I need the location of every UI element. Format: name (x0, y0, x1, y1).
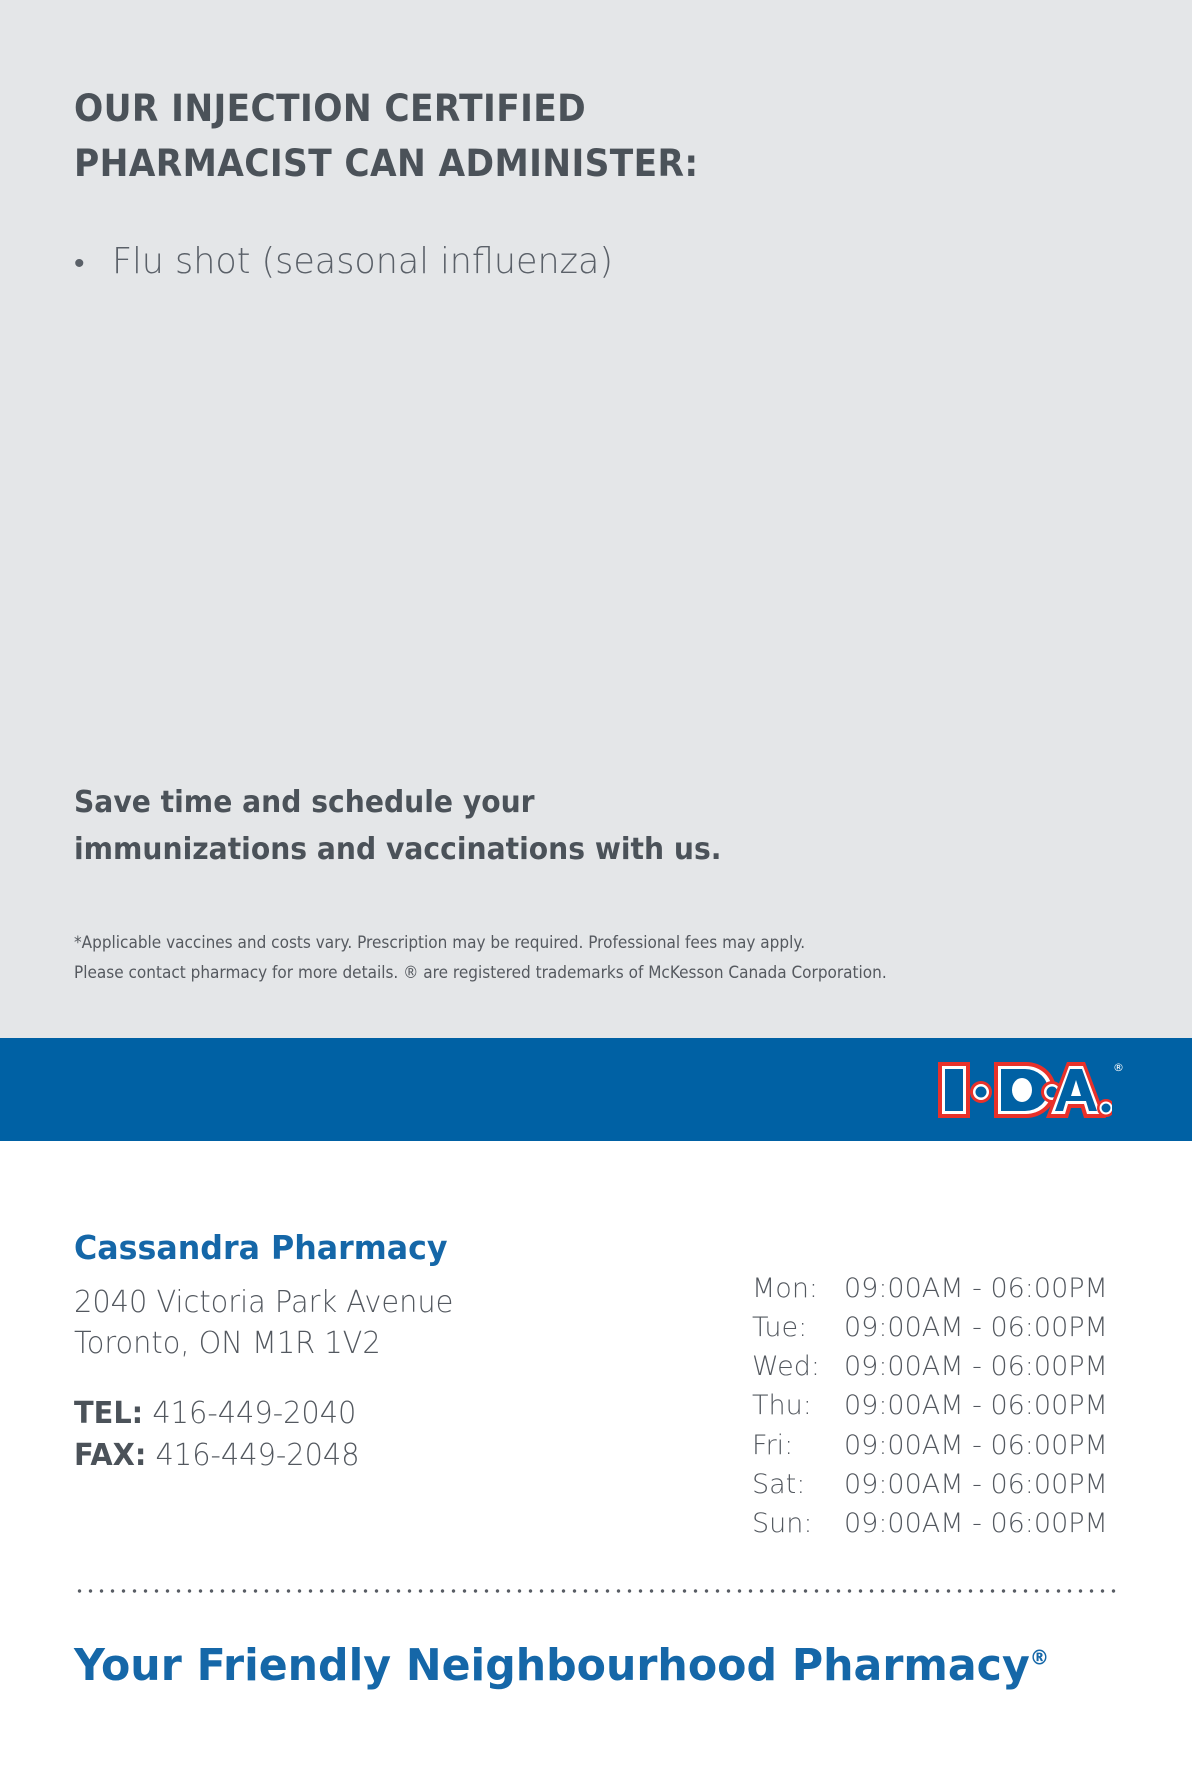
store-address-line-1: 2040 Victoria Park Avenue (74, 1282, 669, 1324)
page-title-line-1: OUR INJECTION CERTIFIED (74, 82, 874, 137)
store-contact-block: Cassandra Pharmacy 2040 Victoria Park Av… (74, 1228, 694, 1476)
telephone-value: 416-449-2040 (152, 1396, 356, 1431)
disclaimer-line-1: *Applicable vaccines and costs vary. Pre… (74, 928, 1037, 958)
store-address-line-2: Toronto, ON M1R 1V2 (74, 1323, 669, 1365)
hours-day-label: Wed: (752, 1347, 844, 1386)
service-label: Flu shot (seasonal influenza) (112, 238, 613, 287)
hours-time-value: 09:00AM - 06:00PM (844, 1308, 1108, 1347)
hours-day-label: Sun: (752, 1504, 844, 1543)
store-name: Cassandra Pharmacy (74, 1228, 669, 1268)
table-row: Sat: 09:00AM - 06:00PM (752, 1465, 1108, 1504)
bullet-icon: • (74, 249, 112, 279)
dotted-divider (74, 1588, 1118, 1594)
hours-time-value: 09:00AM - 06:00PM (844, 1465, 1108, 1504)
hours-time-value: 09:00AM - 06:00PM (844, 1504, 1108, 1543)
hours-day-label: Fri: (752, 1426, 844, 1465)
hours-time-value: 09:00AM - 06:00PM (844, 1386, 1108, 1425)
brand-band: ® (0, 1038, 1192, 1141)
table-row: Mon: 09:00AM - 06:00PM (752, 1269, 1108, 1308)
hours-time-value: 09:00AM - 06:00PM (844, 1347, 1108, 1386)
disclaimer-line-2: Please contact pharmacy for more details… (74, 958, 1037, 988)
disclaimer-text: *Applicable vaccines and costs vary. Pre… (74, 928, 1037, 989)
fax-value: 416-449-2048 (156, 1438, 360, 1473)
telephone-label: TEL: (74, 1396, 143, 1431)
hours-day-label: Thu: (752, 1386, 844, 1425)
hours-time-value: 09:00AM - 06:00PM (844, 1426, 1108, 1465)
table-row: Sun: 09:00AM - 06:00PM (752, 1504, 1108, 1543)
promo-line-2: immunizations and vaccinations with us. (74, 826, 882, 873)
page-title-line-2: PHARMACIST CAN ADMINISTER: (74, 137, 874, 192)
tagline-registered-mark: ® (1030, 1645, 1049, 1669)
services-list: • Flu shot (seasonal influenza) (74, 238, 974, 287)
hours-day-label: Sat: (752, 1465, 844, 1504)
table-row: Fri: 09:00AM - 06:00PM (752, 1426, 1108, 1465)
store-hours-table: Mon: 09:00AM - 06:00PM Tue: 09:00AM - 06… (752, 1269, 1108, 1543)
fax-label: FAX: (74, 1438, 146, 1473)
store-hours-body: Mon: 09:00AM - 06:00PM Tue: 09:00AM - 06… (752, 1269, 1108, 1543)
ida-logo: ® (934, 1058, 1124, 1122)
hours-day-label: Mon: (752, 1269, 844, 1308)
table-row: Tue: 09:00AM - 06:00PM (752, 1308, 1108, 1347)
store-info-section: Cassandra Pharmacy 2040 Victoria Park Av… (0, 1141, 1192, 1785)
services-panel: OUR INJECTION CERTIFIED PHARMACIST CAN A… (0, 0, 1192, 1038)
tagline: Your Friendly Neighbourhood Pharmacy® (74, 1642, 1049, 1690)
store-phone-block: TEL: 416-449-2040 FAX: 416-449-2048 (74, 1393, 694, 1476)
pharmacy-flyer-page: OUR INJECTION CERTIFIED PHARMACIST CAN A… (0, 0, 1192, 1785)
ida-registered-mark: ® (1113, 1062, 1124, 1073)
promo-line-1: Save time and schedule your (74, 779, 882, 826)
promo-message: Save time and schedule your immunization… (74, 779, 882, 873)
page-title: OUR INJECTION CERTIFIED PHARMACIST CAN A… (74, 82, 874, 192)
store-telephone-row: TEL: 416-449-2040 (74, 1393, 669, 1435)
store-fax-row: FAX: 416-449-2048 (74, 1435, 669, 1477)
hours-day-label: Tue: (752, 1308, 844, 1347)
table-row: Wed: 09:00AM - 06:00PM (752, 1347, 1108, 1386)
list-item: • Flu shot (seasonal influenza) (74, 238, 974, 287)
table-row: Thu: 09:00AM - 06:00PM (752, 1386, 1108, 1425)
ida-logo-icon (934, 1058, 1112, 1122)
hours-time-value: 09:00AM - 06:00PM (844, 1269, 1108, 1308)
tagline-text: Your Friendly Neighbourhood Pharmacy (74, 1640, 1030, 1691)
